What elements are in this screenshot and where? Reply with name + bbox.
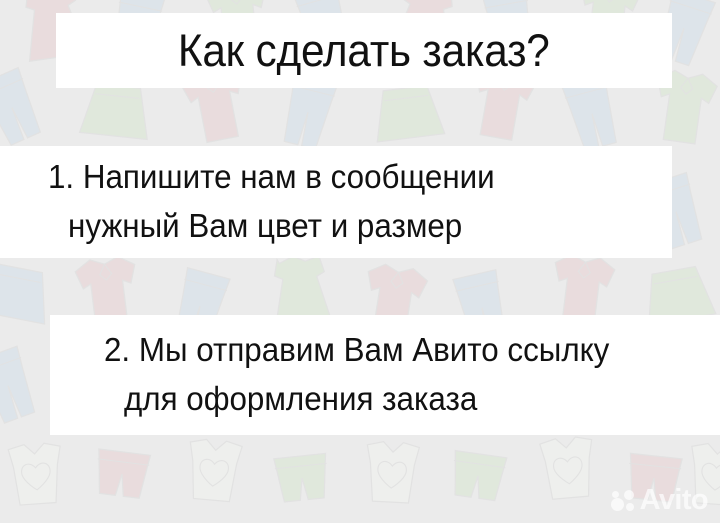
title-band: Как сделать заказ? [56,13,672,88]
page-title: Как сделать заказ? [178,28,550,73]
poster-canvas: Как сделать заказ? 1. Напишите нам в соо… [0,0,720,523]
step-1-line-2: нужный Вам цвет и размер [68,202,642,251]
step-2-line-2: для оформления заказа [124,375,709,424]
step-2-line-1: 2. Мы отправим Вам Авито ссылку [104,326,708,375]
step-1-line-1: 1. Напишите нам в сообщении [48,153,641,202]
step-1-band: 1. Напишите нам в сообщении нужный Вам ц… [0,146,672,258]
step-2-band: 2. Мы отправим Вам Авито ссылку для офор… [50,315,720,435]
